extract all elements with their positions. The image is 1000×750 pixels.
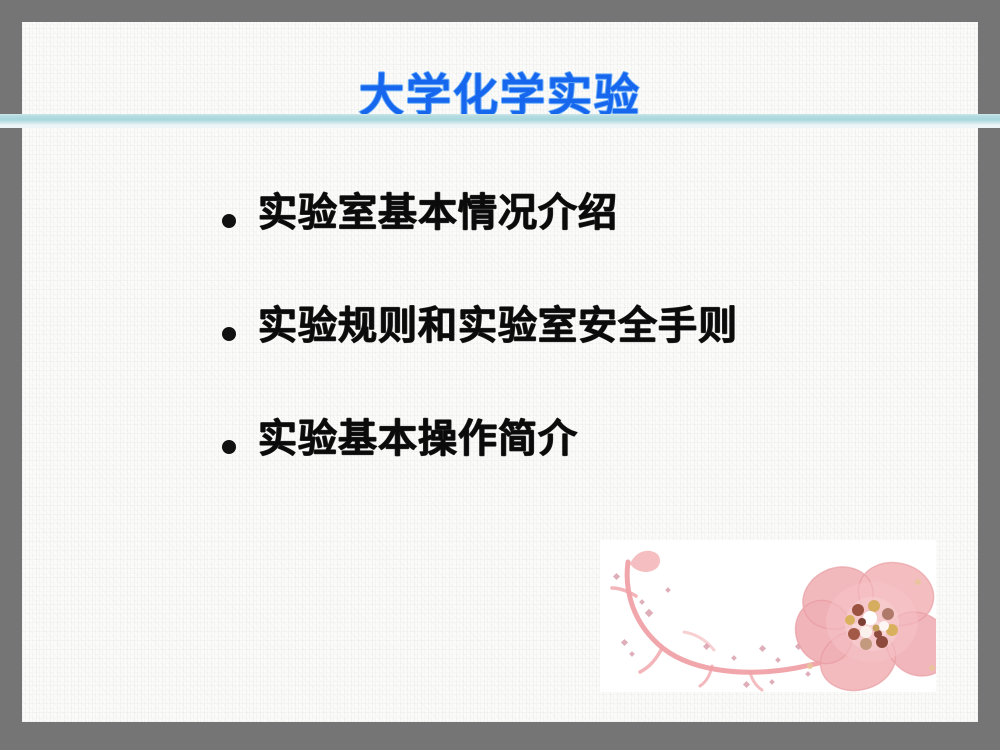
list-item[interactable]: 实验室基本情况介绍 bbox=[222, 192, 942, 248]
slide-title: 大学化学实验 bbox=[22, 72, 978, 119]
title-divider-rule-highlight bbox=[0, 125, 1000, 128]
bullet-dot-icon bbox=[222, 327, 236, 341]
title-divider-rule bbox=[0, 114, 1000, 125]
bullet-item-label: 实验室基本情况介绍 bbox=[258, 192, 942, 237]
flower-clipart-image bbox=[600, 540, 936, 692]
bullet-item-label: 实验规则和实验室安全手则 bbox=[258, 305, 942, 350]
bullet-dot-icon bbox=[222, 214, 236, 228]
pink-flower-icon bbox=[600, 540, 936, 692]
list-item[interactable]: 实验基本操作简介 bbox=[222, 418, 942, 474]
list-item[interactable]: 实验规则和实验室安全手则 bbox=[222, 305, 942, 361]
presentation-frame: 大学化学实验 实验室基本情况介绍 实验规则和实验室安全手则 实验基本操作简介 bbox=[0, 0, 1000, 750]
bullet-dot-icon bbox=[222, 440, 236, 454]
bullet-item-label: 实验基本操作简介 bbox=[258, 418, 942, 463]
bullet-list: 实验室基本情况介绍 实验规则和实验室安全手则 实验基本操作简介 bbox=[222, 192, 942, 531]
